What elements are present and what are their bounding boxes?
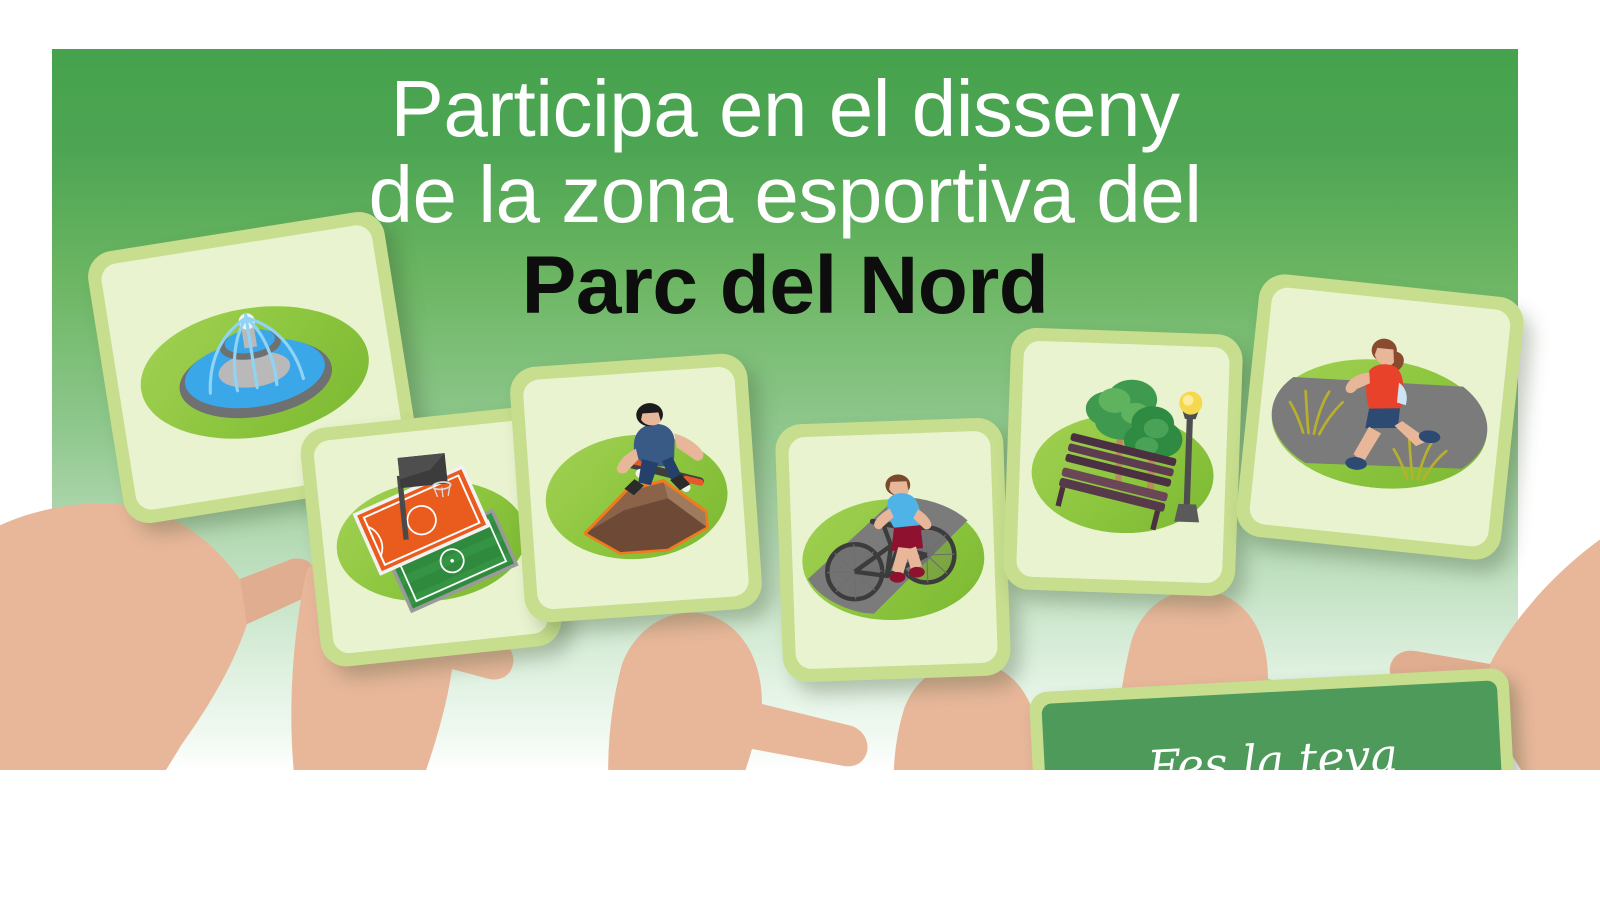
cycling-path-card[interactable] xyxy=(775,417,1012,683)
poster-canvas: Participa en el disseny de la zona espor… xyxy=(0,0,1600,900)
cyclist-icon xyxy=(788,431,998,670)
title-line-2: de la zona esportiva del xyxy=(52,155,1518,235)
bench-trees-card[interactable] xyxy=(1002,327,1243,597)
skate-card-inner xyxy=(522,366,750,610)
footer: Ajuntament de Sabadell Hi col·labora: xyxy=(0,770,1600,900)
running-path-card[interactable] xyxy=(1234,272,1526,562)
bench-card-inner xyxy=(1016,340,1230,583)
banner: Participa en el disseny de la zona espor… xyxy=(52,49,1518,770)
skater-icon xyxy=(522,366,750,610)
runner-card-inner xyxy=(1248,286,1512,548)
skate-ramp-card[interactable] xyxy=(508,352,763,624)
bench-trees-icon xyxy=(1016,340,1230,583)
bike-card-inner xyxy=(788,431,998,670)
runner-icon xyxy=(1248,286,1512,548)
title-line-1: Participa en el disseny xyxy=(52,69,1518,149)
